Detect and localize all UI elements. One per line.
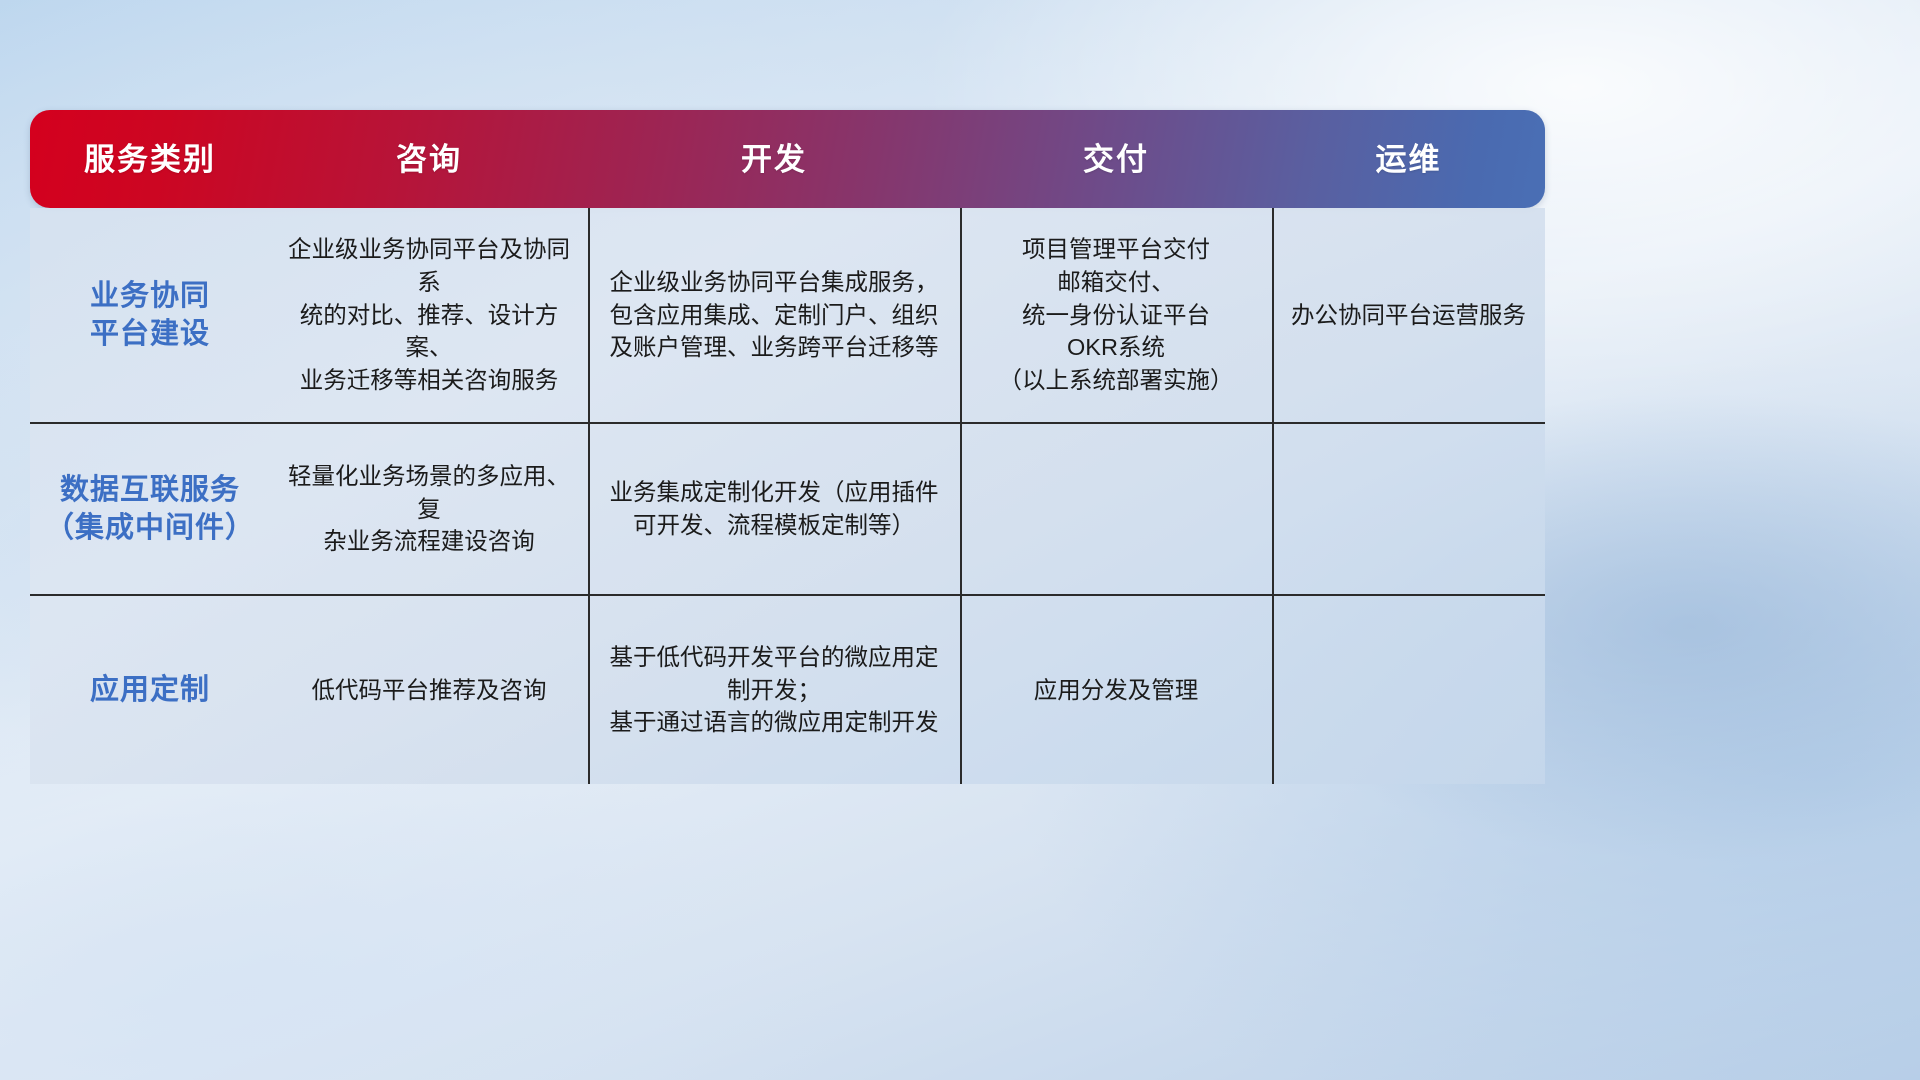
table-header-row: 服务类别 咨询 开发 交付 运维: [30, 110, 1545, 208]
column-header-development: 开发: [588, 144, 960, 175]
cell-delivery: 项目管理平台交付 邮箱交付、 统一身份认证平台 OKR系统 （以上系统部署实施）: [960, 208, 1272, 422]
table-row: 数据互联服务 （集成中间件） 轻量化业务场景的多应用、复 杂业务流程建设咨询 业…: [30, 422, 1545, 594]
cell-operations: [1272, 424, 1545, 594]
cell-development: 基于低代码开发平台的微应用定 制开发； 基于通过语言的微应用定制开发: [588, 596, 960, 784]
cell-delivery: [960, 424, 1272, 594]
column-header-consulting: 咨询: [270, 144, 588, 175]
service-category-table: 服务类别 咨询 开发 交付 运维 业务协同 平台建设 企业级业务协同平台及协同系…: [30, 110, 1545, 784]
cell-consulting: 轻量化业务场景的多应用、复 杂业务流程建设咨询: [270, 424, 588, 594]
cell-operations: [1272, 596, 1545, 784]
row-category-label: 应用定制: [30, 596, 270, 784]
column-header-operations: 运维: [1272, 144, 1545, 175]
row-category-label: 业务协同 平台建设: [30, 208, 270, 422]
cell-development: 企业级业务协同平台集成服务， 包含应用集成、定制门户、组织 及账户管理、业务跨平…: [588, 208, 960, 422]
cell-delivery: 应用分发及管理: [960, 596, 1272, 784]
table-row: 应用定制 低代码平台推荐及咨询 基于低代码开发平台的微应用定 制开发； 基于通过…: [30, 594, 1545, 784]
column-header-category: 服务类别: [30, 144, 270, 175]
cell-development: 业务集成定制化开发（应用插件 可开发、流程模板定制等）: [588, 424, 960, 594]
table-body: 业务协同 平台建设 企业级业务协同平台及协同系 统的对比、推荐、设计方案、 业务…: [30, 208, 1545, 784]
cell-operations: 办公协同平台运营服务: [1272, 208, 1545, 422]
row-category-label: 数据互联服务 （集成中间件）: [30, 424, 270, 594]
cell-consulting: 企业级业务协同平台及协同系 统的对比、推荐、设计方案、 业务迁移等相关咨询服务: [270, 208, 588, 422]
cell-consulting: 低代码平台推荐及咨询: [270, 596, 588, 784]
column-header-delivery: 交付: [960, 144, 1272, 175]
table-row: 业务协同 平台建设 企业级业务协同平台及协同系 统的对比、推荐、设计方案、 业务…: [30, 208, 1545, 422]
